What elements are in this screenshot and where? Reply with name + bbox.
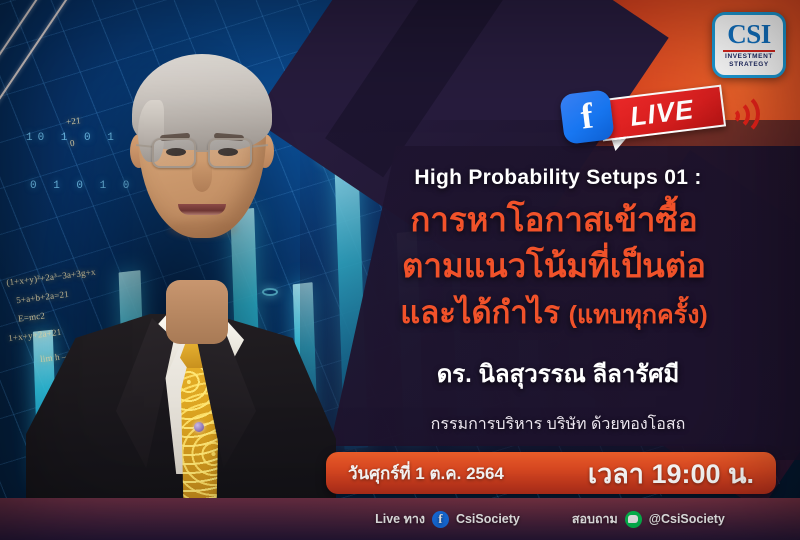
event-time: เวลา 19:00 น. [588,452,776,495]
headline-thai-line-2: ตามแนวโน้มที่เป็นต่อ [320,249,788,284]
portrait-mouth [178,204,226,215]
portrait-chin-shadow [168,220,238,238]
portrait-lapel-pin [194,422,204,432]
schedule-bar: วันศุกร์ที่ 1 ต.ค. 2564 เวลา 19:00 น. [326,452,776,494]
speaker-portrait [20,14,340,540]
csi-logo-rule [723,50,775,52]
live-label: LIVE [598,85,726,142]
footer-line[interactable]: สอบถาม @CsiSociety [572,509,725,529]
footer-facebook-prefix: Live ทาง [375,509,425,529]
glasses-lens-right [208,138,252,168]
glasses-bridge [196,150,210,152]
csi-logo[interactable]: CSI INVESTMENT STRATEGY [712,12,786,78]
headline-thai-line-3-main: และได้กำไร [400,295,568,330]
headline-thai-line-1: การหาโอกาสเข้าซื้อ [320,203,788,238]
speaker-name: ดร. นิลสุวรรณ ลีลารัศมี [330,354,786,393]
csi-logo-subtitle-line1: INVESTMENT [725,53,773,61]
footer-line-prefix: สอบถาม [572,509,618,529]
facebook-live-badge[interactable]: LIVE f [548,86,796,148]
csi-logo-wordmark: CSI [727,22,771,48]
facebook-icon: f [432,511,449,528]
event-date: วันศุกร์ที่ 1 ต.ค. 2564 [326,460,504,487]
facebook-f-glyph: f [559,89,615,145]
glasses-lens-left [152,138,196,168]
promo-poster: (1+x+y)²+2a³−3a+3g+x 5+a+b+2a=21 E=mc2 1… [0,0,800,540]
line-icon [625,511,642,528]
footer-facebook[interactable]: Live ทาง f CsiSociety [375,509,520,529]
portrait-neck [166,280,228,344]
footer-content: Live ทาง f CsiSociety สอบถาม @CsiSociety [0,498,800,540]
headline-thai-line-3: และได้กำไร (แทบทุกครั้ง) [320,297,788,330]
footer-line-handle: @CsiSociety [649,512,725,526]
headline-english: High Probability Setups 01 : [330,166,786,190]
headline-thai-line-3-parenthetical: (แทบทุกครั้ง) [569,301,708,329]
csi-logo-subtitle-line2: STRATEGY [729,61,769,69]
footer-facebook-handle: CsiSociety [456,512,520,526]
speaker-role: กรรมการบริหาร บริษัท ด้วยทองโอสถ [330,412,786,437]
broadcast-wave-icon [724,108,740,124]
